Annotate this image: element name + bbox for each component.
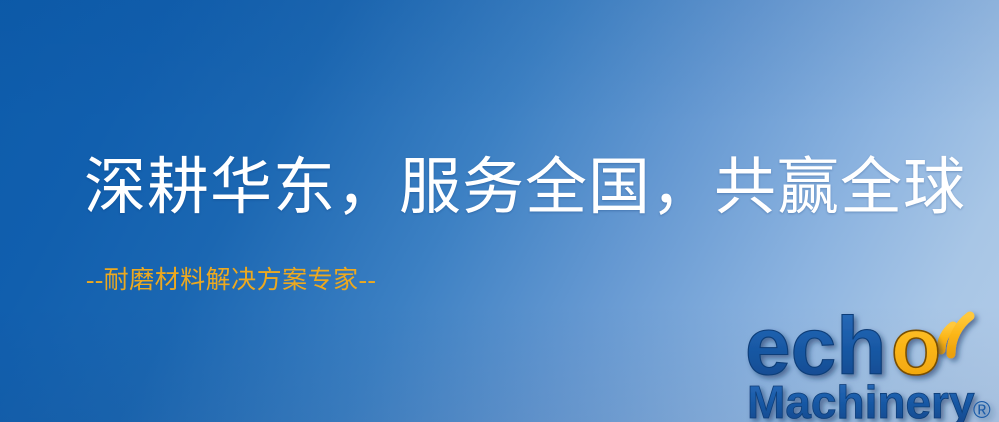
echo-wave-icon: [941, 316, 970, 354]
banner-headline: 深耕华东，服务全国，共赢全球: [84, 152, 966, 224]
logo-tagline: Machinery: [747, 376, 975, 422]
banner-subheadline: --耐磨材料解决方案专家--: [86, 266, 376, 296]
registered-trademark-icon: ®: [973, 397, 991, 422]
hero-banner: 深耕华东，服务全国，共赢全球 --耐磨材料解决方案专家--: [0, 0, 999, 422]
logo-tagline-group: Machinery ®: [747, 376, 991, 422]
echo-machinery-logo: ech o Machinery ®: [745, 296, 999, 422]
